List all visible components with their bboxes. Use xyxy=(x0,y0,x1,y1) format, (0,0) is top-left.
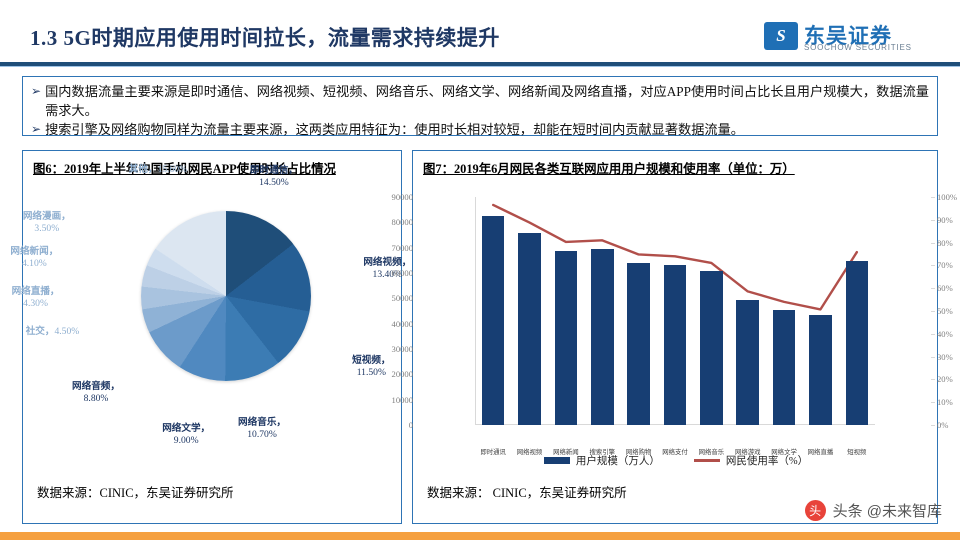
y-axis-tick-label: 60000 xyxy=(392,268,413,278)
y2-axis-tick-mark xyxy=(931,220,935,221)
chart-legend: 用户规模（万人） 网民使用率（%） xyxy=(419,453,933,468)
y2-axis-tick-mark xyxy=(931,379,935,380)
legend-swatch-bar-icon xyxy=(544,457,570,464)
logo-mark-icon: S xyxy=(764,22,798,50)
y2-axis-tick-label: 10% xyxy=(937,397,953,407)
y2-axis-tick-label: 70% xyxy=(937,260,953,270)
watermark-text: 头条 @未来智库 xyxy=(833,500,942,521)
legend-item-line: 网民使用率（%） xyxy=(694,453,808,468)
watermark-logo-icon: 头 xyxy=(805,500,826,521)
y-axis-tick-label: 0 xyxy=(409,420,413,430)
y-axis-tick-label: 20000 xyxy=(392,369,413,379)
y2-axis-tick-label: 80% xyxy=(937,238,953,248)
pie-slice-label: 网络漫画，3.50% xyxy=(2,211,92,235)
pie-slice-label: 其他，15.60% xyxy=(113,164,203,176)
y2-axis-tick-mark xyxy=(931,243,935,244)
bar xyxy=(555,251,578,425)
y2-axis-tick-label: 30% xyxy=(937,352,953,362)
y2-axis-tick-mark xyxy=(931,288,935,289)
y2-axis-tick-mark xyxy=(931,402,935,403)
bullet-arrow-icon: ➢ xyxy=(31,82,41,101)
y2-axis-tick-label: 90% xyxy=(937,215,953,225)
bullet-text: 国内数据流量主要来源是即时通信、网络视频、短视频、网络音乐、网络文学、网络新闻及… xyxy=(45,82,929,120)
y2-axis-tick-mark xyxy=(931,311,935,312)
pie-slice-label: 网络音频，8.80% xyxy=(51,381,141,405)
pie-circle xyxy=(141,211,311,381)
bar xyxy=(846,261,869,425)
y-axis-tick-label: 10000 xyxy=(392,395,413,405)
slide-header: 1.3 5G时期应用使用时间拉长，流量需求持续提升 S 东吴证券 SOOCHOW… xyxy=(0,0,960,66)
y-axis-tick-label: 50000 xyxy=(392,293,413,303)
bar xyxy=(664,265,687,425)
combo-chart: 0100002000030000400005000060000700008000… xyxy=(419,181,933,481)
legend-label-bars: 用户规模（万人） xyxy=(576,453,660,468)
y2-axis-tick-mark xyxy=(931,425,935,426)
y2-axis-tick-label: 20% xyxy=(937,374,953,384)
page-title: 1.3 5G时期应用使用时间拉长，流量需求持续提升 xyxy=(30,22,500,52)
bar xyxy=(773,310,796,425)
legend-item-bars: 用户规模（万人） xyxy=(544,453,660,468)
pie-slice-label: 社交，4.50% xyxy=(7,326,97,338)
y2-axis-tick-label: 60% xyxy=(937,283,953,293)
header-divider-secondary xyxy=(0,66,960,67)
legend-label-line: 网民使用率（%） xyxy=(726,453,808,468)
bar xyxy=(627,263,650,425)
logo-name-en: SOOCHOW SECURITIES xyxy=(804,43,912,52)
figure-6-source: 数据来源：CINIC，东吴证券研究所 xyxy=(37,482,234,501)
bullet-text: 搜索引擎及网络购物同样为流量主要来源，这两类应用特征为：使用时长相对较短，却能在… xyxy=(45,120,929,139)
y-axis-tick-label: 30000 xyxy=(392,344,413,354)
figure-6-panel: 图6：2019年上半年中国手机网民APP使用时长占比情况 即时通信，14.50%… xyxy=(22,150,402,524)
pie-slice-label: 网络直播，4.30% xyxy=(0,286,81,310)
bullet-arrow-icon: ➢ xyxy=(31,120,41,139)
y2-axis-tick-label: 0% xyxy=(937,420,948,430)
pie-slice-label: 网络新闻，4.10% xyxy=(0,246,79,270)
bar xyxy=(591,249,614,425)
y2-axis-tick-mark xyxy=(931,265,935,266)
figure-7-panel: 图7：2019年6月网民各类互联网应用用户规模和使用率（单位：万） 010000… xyxy=(412,150,938,524)
figure-7-source: 数据来源： CINIC，东吴证券研究所 xyxy=(427,482,627,501)
pie-slice-label: 网络文学，9.00% xyxy=(141,423,231,447)
footer-accent-bar xyxy=(0,532,960,540)
pie-slice-label: 即时通信，14.50% xyxy=(229,165,319,189)
y-axis-tick-label: 80000 xyxy=(392,217,413,227)
pie-chart: 即时通信，14.50%网络视频，13.40%短视频，11.50%网络音乐，10.… xyxy=(23,179,403,479)
y2-axis-tick-mark xyxy=(931,197,935,198)
chart-plot-area: 0100002000030000400005000060000700008000… xyxy=(475,197,875,425)
y-axis-tick-label: 90000 xyxy=(392,192,413,202)
y2-axis-tick-label: 100% xyxy=(937,192,957,202)
bullet-item: ➢ 国内数据流量主要来源是即时通信、网络视频、短视频、网络音乐、网络文学、网络新… xyxy=(31,82,929,120)
bullet-item: ➢ 搜索引擎及网络购物同样为流量主要来源，这两类应用特征为：使用时长相对较短，却… xyxy=(31,120,929,139)
bar xyxy=(518,233,541,425)
y-axis-tick-label: 70000 xyxy=(392,243,413,253)
y2-axis-tick-mark xyxy=(931,357,935,358)
y2-axis-tick-label: 40% xyxy=(937,329,953,339)
y2-axis-tick-mark xyxy=(931,334,935,335)
bar xyxy=(809,315,832,425)
y2-axis-tick-label: 50% xyxy=(937,306,953,316)
figure-7-title: 图7：2019年6月网民各类互联网应用用户规模和使用率（单位：万） xyxy=(423,159,795,177)
bar xyxy=(736,300,759,425)
legend-swatch-line-icon xyxy=(694,459,720,462)
summary-bullets: ➢ 国内数据流量主要来源是即时通信、网络视频、短视频、网络音乐、网络文学、网络新… xyxy=(22,76,938,136)
watermark: 头 头条 @未来智库 xyxy=(805,500,942,521)
bar xyxy=(700,271,723,425)
company-logo: S 东吴证券 SOOCHOW SECURITIES xyxy=(764,20,942,56)
bar xyxy=(482,216,505,425)
y-axis-tick-label: 40000 xyxy=(392,319,413,329)
